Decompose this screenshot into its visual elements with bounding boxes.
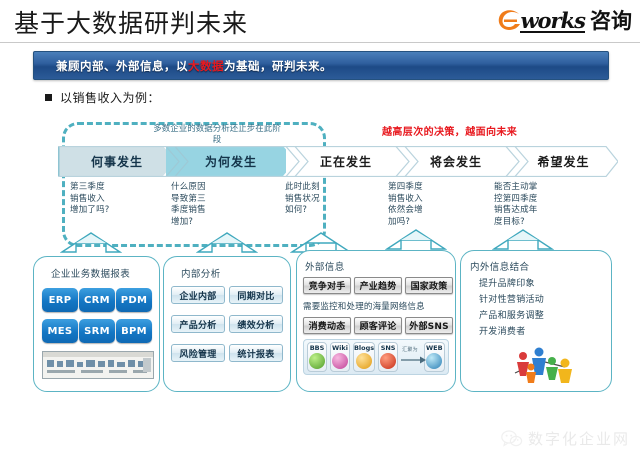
page-title: 基于大数据研判未来 — [14, 4, 248, 40]
banner-text: 兼顾内部、外部信息，以大数据为基础，研判未来。 — [56, 58, 332, 74]
combined-item-3: 开发消费者 — [479, 325, 526, 340]
box-combined-info-title: 内外信息结合 — [470, 259, 529, 273]
watermark-text: 数字化企业网 — [528, 428, 630, 449]
social-icon-blogs[interactable]: Blogs — [353, 342, 375, 372]
internal-item-4[interactable]: 风险管理 — [171, 344, 225, 362]
system-button-erp[interactable]: ERP — [42, 288, 78, 312]
bbs-glyph-icon — [309, 353, 325, 369]
banner-suffix: 为基础，研判未来。 — [224, 59, 332, 73]
stage-desc-0: 第三季度 销售收入 增加了吗? — [70, 182, 155, 217]
box-enterprise-data: 企业业务数据报表 ERP CRM PDM MES SRM BPM — [33, 256, 160, 392]
up-arrow-5 — [492, 228, 554, 250]
chevron-outlines — [58, 146, 618, 177]
external-row2-item-1[interactable]: 顾客评论 — [354, 317, 402, 334]
internal-item-0[interactable]: 企业内部 — [171, 286, 225, 304]
web-globe-icon — [426, 353, 442, 369]
stage-desc-3: 第四季度 销售收入 依然会增 加吗? — [388, 182, 473, 228]
internal-item-5[interactable]: 统计报表 — [229, 344, 283, 362]
social-icon-sns[interactable]: SNS — [378, 342, 398, 372]
headline-banner: 兼顾内部、外部信息，以大数据为基础，研判未来。 — [33, 51, 609, 80]
banner-highlight: 大数据 — [188, 59, 224, 73]
bullet-square-icon — [45, 94, 52, 101]
up-arrow-2 — [196, 231, 258, 253]
box-internal-analysis-title: 内部分析 — [181, 266, 221, 280]
stage-desc-4: 能否主动掌 控第四季度 销售达成年 度目标? — [494, 182, 584, 228]
aggregate-arrow-label: 汇聚为 — [402, 346, 418, 353]
social-label-sns: SNS — [381, 344, 396, 352]
stage-desc-1: 什么原因 导致第三 季度销售 增加? — [171, 182, 256, 228]
bullet-row: 以销售收入为例： — [45, 89, 160, 106]
system-button-crm[interactable]: CRM — [79, 288, 115, 312]
banner-prefix: 兼顾内部、外部信息，以 — [56, 59, 188, 73]
social-label-wiki: Wiki — [332, 344, 348, 352]
wechat-icon — [501, 430, 523, 448]
box-enterprise-data-title: 企业业务数据报表 — [51, 266, 130, 280]
external-row2-item-2[interactable]: 外部SNS — [405, 317, 453, 334]
combined-item-0: 提升品牌印象 — [479, 277, 535, 292]
external-row2-item-0[interactable]: 消费动态 — [303, 317, 351, 334]
up-arrow-1 — [60, 231, 122, 253]
social-icon-bbs[interactable]: BBS — [307, 342, 327, 372]
combined-item-2: 产品和服务调整 — [479, 309, 544, 324]
dashed-note-text: 多数企业的数据分析还止步在此阶段 — [152, 124, 282, 146]
slide-canvas: 基于大数据研判未来 works 咨询 兼顾内部、外部信息，以大数据为基础，研判未… — [0, 0, 640, 457]
wiki-glyph-icon — [332, 353, 348, 369]
blogs-glyph-icon — [356, 353, 372, 369]
sns-glyph-icon — [380, 353, 396, 369]
red-note-text: 越高层次的决策，越面向未来 — [382, 123, 582, 138]
box-external-info: 外部信息 竞争对手 产业趋势 国家政策 需要监控和处理的海量网络信息 消费动态 … — [296, 250, 456, 392]
eworks-e-icon — [497, 9, 523, 33]
box-combined-info: 内外信息结合 提升品牌印象 针对性营销活动 产品和服务调整 开发消费者 — [460, 250, 612, 392]
external-row1-item-0[interactable]: 竞争对手 — [303, 277, 351, 294]
external-info-note: 需要监控和处理的海量网络信息 — [303, 300, 453, 312]
bullet-label: 以销售收入为例： — [60, 89, 160, 106]
social-label-web: WEB — [426, 344, 443, 352]
combined-item-1: 针对性营销活动 — [479, 293, 544, 308]
social-icon-wiki[interactable]: Wiki — [330, 342, 350, 372]
system-button-bpm[interactable]: BPM — [116, 319, 152, 343]
eworks-logo: works 咨询 — [497, 8, 632, 34]
report-thumbnail-image — [42, 351, 154, 379]
box-external-info-title: 外部信息 — [305, 259, 345, 273]
social-label-bbs: BBS — [310, 344, 325, 352]
system-button-srm[interactable]: SRM — [79, 319, 115, 343]
social-label-blogs: Blogs — [354, 344, 374, 352]
system-button-mes[interactable]: MES — [42, 319, 78, 343]
external-row1-item-2[interactable]: 国家政策 — [405, 277, 453, 294]
stage-desc-2: 此时此刻 销售状况 如何? — [285, 182, 370, 217]
system-button-pdm[interactable]: PDM — [116, 288, 152, 312]
box-internal-analysis: 内部分析 企业内部 同期对比 产品分析 绩效分析 风险管理 统计报表 — [163, 256, 291, 392]
internal-item-3[interactable]: 绩效分析 — [229, 315, 283, 333]
people-group-illustration — [507, 343, 579, 391]
social-sources-strip: BBS Wiki Blogs SNS 汇聚为 — [303, 339, 449, 375]
internal-item-1[interactable]: 同期对比 — [229, 286, 283, 304]
logo-wordmark: works — [520, 10, 585, 33]
watermark: 数字化企业网 — [501, 428, 630, 449]
up-arrow-4 — [385, 228, 447, 250]
logo-suffix: 咨询 — [590, 11, 632, 32]
aggregate-arrow: 汇聚为 — [401, 346, 420, 368]
internal-item-2[interactable]: 产品分析 — [171, 315, 225, 333]
header-divider — [0, 42, 640, 43]
external-row1-item-1[interactable]: 产业趋势 — [354, 277, 402, 294]
